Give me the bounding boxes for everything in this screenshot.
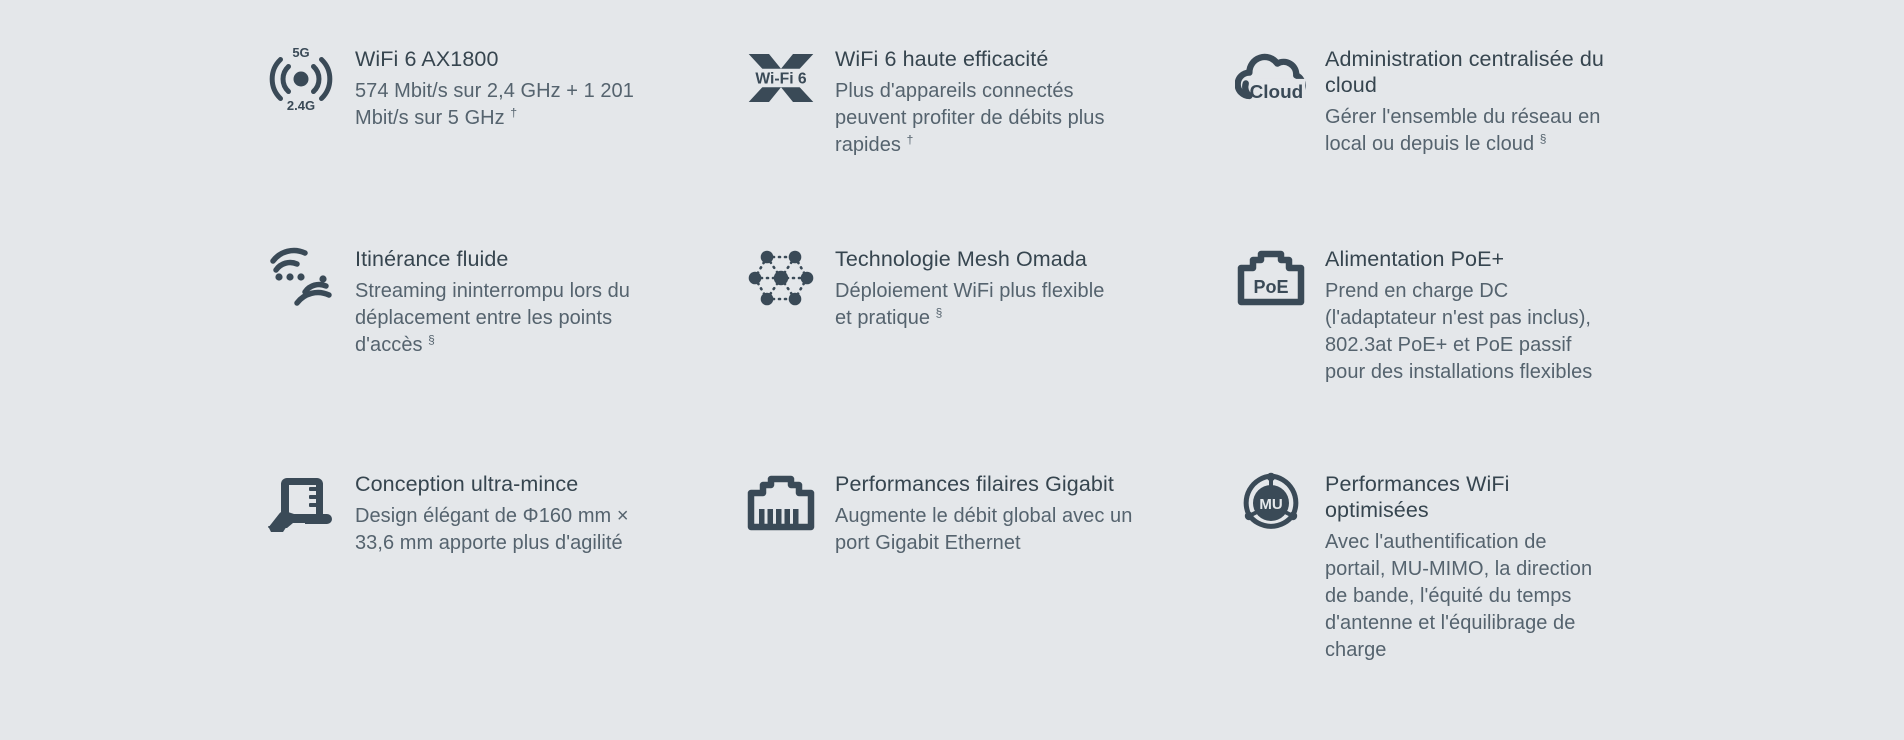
feature-text: Administration centralisée du cloud Gére… [1325, 40, 1615, 158]
icon-label-5g: 5G [292, 45, 309, 60]
hand-holding-device-icon [265, 467, 337, 539]
feature-footnote: § [1540, 131, 1547, 145]
feature-item-gigabit-wired: Performances filaires Gigabit Augmente l… [745, 465, 1235, 664]
cloud-icon: Cloud [1235, 42, 1307, 114]
feature-description: Design élégant de Φ160 mm × 33,6 mm appo… [355, 503, 645, 557]
icon-label-poe: PoE [1253, 277, 1288, 297]
feature-description-text: Plus d'appareils connectés peuvent profi… [835, 80, 1105, 156]
feature-description: Gérer l'ensemble du réseau en local ou d… [1325, 104, 1615, 158]
feature-description: Plus d'appareils connectés peuvent profi… [835, 78, 1110, 159]
rj45-ethernet-port-icon [745, 467, 817, 539]
feature-footnote: § [428, 332, 435, 346]
feature-title: WiFi 6 AX1800 [355, 46, 650, 72]
feature-description: Avec l'authentification de portail, MU-M… [1325, 529, 1605, 664]
feature-text: WiFi 6 AX1800 574 Mbit/s sur 2,4 GHz + 1… [355, 40, 650, 132]
feature-description-text: 574 Mbit/s sur 2,4 GHz + 1 201 Mbit/s su… [355, 80, 634, 129]
feature-item-wifi6-efficiency: Wi-Fi 6 WiFi 6 haute efficacité Plus d'a… [745, 40, 1235, 240]
wifi-dual-band-5g-24g-icon: 5G 2.4G [265, 42, 337, 114]
feature-title: Administration centralisée du cloud [1325, 46, 1615, 98]
feature-description-text: Déploiement WiFi plus flexible et pratiq… [835, 280, 1104, 329]
poe-port-icon: PoE [1235, 242, 1307, 314]
feature-text: Performances WiFi optimisées Avec l'auth… [1325, 465, 1605, 664]
feature-grid: 5G 2.4G WiFi 6 AX1800 574 Mbit/s sur 2,4… [265, 40, 1685, 664]
icon-label-mu: MU [1259, 496, 1282, 513]
wifi-6-logo-icon: Wi-Fi 6 [745, 42, 817, 114]
feature-text: WiFi 6 haute efficacité Plus d'appareils… [835, 40, 1110, 159]
feature-text: Performances filaires Gigabit Augmente l… [835, 465, 1135, 557]
feature-description: Déploiement WiFi plus flexible et pratiq… [835, 278, 1125, 332]
feature-item-wifi6-ax1800: 5G 2.4G WiFi 6 AX1800 574 Mbit/s sur 2,4… [265, 40, 745, 240]
feature-description-text: Avec l'authentification de portail, MU-M… [1325, 531, 1592, 661]
mesh-network-icon [745, 242, 817, 314]
feature-description: Streaming ininterrompu lors du déplaceme… [355, 278, 635, 359]
feature-title: Technologie Mesh Omada [835, 246, 1125, 272]
feature-item-cloud-management: Cloud Administration centralisée du clou… [1235, 40, 1685, 240]
icon-label-wifi6: Wi-Fi 6 [755, 71, 807, 88]
feature-text: Technologie Mesh Omada Déploiement WiFi … [835, 240, 1125, 332]
feature-description-text: Gérer l'ensemble du réseau en local ou d… [1325, 106, 1600, 155]
feature-description-text: Augmente le débit global avec un port Gi… [835, 505, 1132, 554]
mu-mimo-icon: MU [1235, 467, 1307, 539]
feature-item-optimized-wifi: MU Performances WiFi optimisées Avec l'a… [1235, 465, 1685, 664]
feature-description-text: Design élégant de Φ160 mm × 33,6 mm appo… [355, 505, 629, 554]
feature-item-seamless-roaming: Itinérance fluide Streaming ininterrompu… [265, 240, 745, 465]
feature-item-ultra-slim-design: Conception ultra-mince Design élégant de… [265, 465, 745, 664]
feature-text: Conception ultra-mince Design élégant de… [355, 465, 645, 557]
seamless-roaming-icon [265, 242, 337, 314]
feature-footnote: † [907, 132, 914, 146]
feature-title: Performances WiFi optimisées [1325, 471, 1605, 523]
feature-text: Itinérance fluide Streaming ininterrompu… [355, 240, 635, 359]
feature-text: Alimentation PoE+ Prend en charge DC (l'… [1325, 240, 1615, 386]
feature-title: Alimentation PoE+ [1325, 246, 1615, 272]
feature-footnote: § [936, 305, 943, 319]
feature-description: Prend en charge DC (l'adaptateur n'est p… [1325, 278, 1615, 386]
feature-title: Performances filaires Gigabit [835, 471, 1135, 497]
icon-label-24g: 2.4G [287, 98, 315, 113]
feature-title: Itinérance fluide [355, 246, 635, 272]
feature-title: Conception ultra-mince [355, 471, 645, 497]
icon-label-cloud: Cloud [1250, 82, 1304, 103]
feature-title: WiFi 6 haute efficacité [835, 46, 1110, 72]
feature-description-text: Streaming ininterrompu lors du déplaceme… [355, 280, 630, 356]
feature-item-mesh-technology: Technologie Mesh Omada Déploiement WiFi … [745, 240, 1235, 465]
feature-description: 574 Mbit/s sur 2,4 GHz + 1 201 Mbit/s su… [355, 78, 650, 132]
feature-item-poe-power: PoE Alimentation PoE+ Prend en charge DC… [1235, 240, 1685, 465]
feature-description-text: Prend en charge DC (l'adaptateur n'est p… [1325, 280, 1592, 383]
feature-footnote: † [510, 105, 517, 119]
feature-description: Augmente le débit global avec un port Gi… [835, 503, 1135, 557]
